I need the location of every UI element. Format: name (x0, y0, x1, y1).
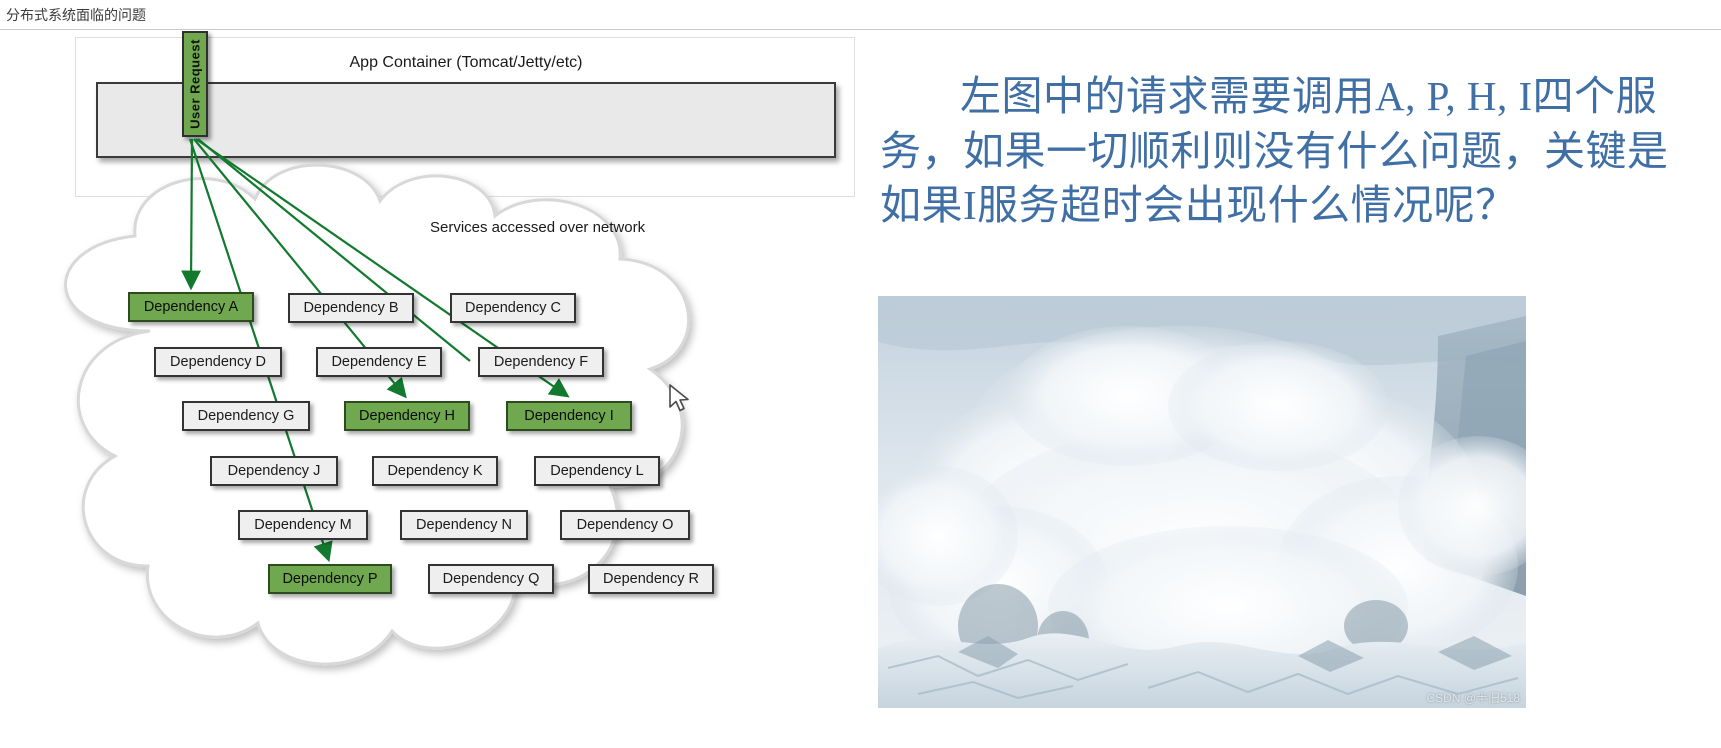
arrow-to-a (191, 139, 192, 286)
commentary-text: 左图中的请求需要调用A, P, H, I四个服务，如果一切顺利则没有什么问题，关… (880, 69, 1700, 233)
dependency-label: Dependency L (550, 463, 644, 479)
dependency-box-o[interactable]: Dependency O (560, 510, 690, 540)
dependency-label: Dependency K (387, 463, 482, 479)
dependency-label: Dependency E (331, 354, 426, 370)
window-title-bar: 分布式系统面临的问题 (0, 0, 1721, 30)
dependency-label: Dependency F (494, 354, 588, 370)
dependency-box-m[interactable]: Dependency M (238, 510, 368, 540)
dependency-label: Dependency Q (443, 571, 540, 587)
avalanche-photo: CSDN @半旧518 (878, 296, 1526, 708)
request-arrows (0, 31, 860, 748)
dependency-box-f[interactable]: Dependency F (478, 347, 604, 377)
dependency-label: Dependency P (282, 571, 377, 587)
dependency-label: Dependency G (198, 408, 295, 424)
dependency-box-e[interactable]: Dependency E (316, 347, 442, 377)
dependency-box-d[interactable]: Dependency D (154, 347, 282, 377)
dependency-label: Dependency C (465, 300, 561, 316)
dependency-box-p[interactable]: Dependency P (268, 564, 392, 594)
dependency-box-q[interactable]: Dependency Q (428, 564, 554, 594)
commentary-panel: 左图中的请求需要调用A, P, H, I四个服务，如果一切顺利则没有什么问题，关… (860, 31, 1721, 748)
arrow-extra-1 (198, 139, 470, 361)
dependency-label: Dependency I (524, 408, 613, 424)
avalanche-illustration (878, 296, 1526, 708)
dependency-label: Dependency M (254, 517, 352, 533)
dependency-label: Dependency B (303, 300, 398, 316)
dependency-box-j[interactable]: Dependency J (210, 456, 338, 486)
dependency-box-r[interactable]: Dependency R (588, 564, 714, 594)
dependency-box-g[interactable]: Dependency G (182, 401, 310, 431)
dependency-box-k[interactable]: Dependency K (372, 456, 498, 486)
architecture-diagram: App Container (Tomcat/Jetty/etc) User Re… (0, 31, 860, 748)
dependency-box-l[interactable]: Dependency L (534, 456, 660, 486)
dependency-label: Dependency R (603, 571, 699, 587)
mouse-cursor (668, 383, 694, 417)
dependency-label: Dependency N (416, 517, 512, 533)
dependency-label: Dependency H (359, 408, 455, 424)
dependency-box-n[interactable]: Dependency N (400, 510, 528, 540)
dependency-box-b[interactable]: Dependency B (288, 293, 414, 323)
dependency-box-c[interactable]: Dependency C (450, 293, 576, 323)
dependency-box-h[interactable]: Dependency H (344, 401, 470, 431)
window-title: 分布式系统面临的问题 (6, 5, 146, 25)
watermark-text: CSDN @半旧518 (1426, 689, 1520, 706)
dependency-label: Dependency O (577, 517, 674, 533)
dependency-label: Dependency D (170, 354, 266, 370)
dependency-box-i[interactable]: Dependency I (506, 401, 632, 431)
dependency-label: Dependency J (228, 463, 321, 479)
dependency-box-a[interactable]: Dependency A (128, 292, 254, 322)
dependency-label: Dependency A (144, 299, 238, 315)
screenshot-root: 分布式系统面临的问题 App Container (Tomcat/Jetty/e… (0, 0, 1721, 748)
